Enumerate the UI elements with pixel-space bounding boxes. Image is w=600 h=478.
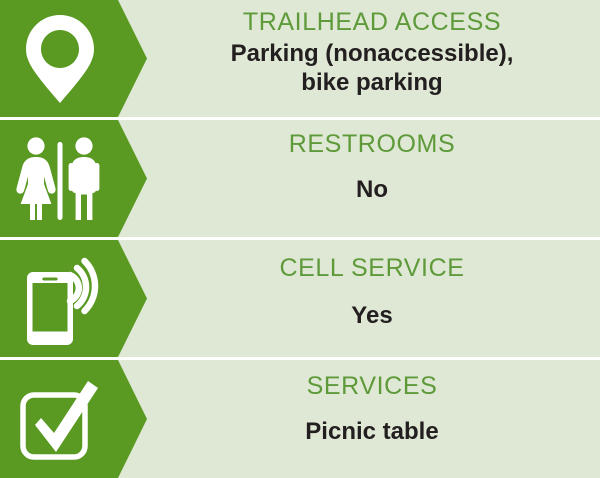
amenity-row: CELL SERVICE Yes xyxy=(0,240,600,357)
map-pin-icon xyxy=(0,0,120,117)
row-heading: RESTROOMS xyxy=(289,130,456,158)
row-heading: CELL SERVICE xyxy=(279,254,464,282)
row-heading: TRAILHEAD ACCESS xyxy=(243,8,501,36)
restrooms-icon xyxy=(0,120,120,237)
amenity-row: RESTROOMS No xyxy=(0,120,600,237)
row-value: No xyxy=(356,176,388,205)
row-heading: SERVICES xyxy=(307,372,438,400)
row-value: Picnic table xyxy=(305,418,438,447)
cell-signal-phone-icon xyxy=(0,240,120,357)
row-content: TRAILHEAD ACCESS Parking (nonaccessible)… xyxy=(150,0,594,117)
row-value-line2: bike parking xyxy=(301,69,442,96)
row-content: SERVICES Picnic table xyxy=(150,360,594,478)
row-value: Yes xyxy=(351,302,392,331)
row-value-line1: Parking (nonaccessible), xyxy=(231,40,514,67)
amenities-panel: TRAILHEAD ACCESS Parking (nonaccessible)… xyxy=(0,0,600,478)
row-content: RESTROOMS No xyxy=(150,120,594,237)
row-value: Parking (nonaccessible), bike parking xyxy=(231,40,514,98)
checkbox-check-icon xyxy=(0,360,120,478)
row-content: CELL SERVICE Yes xyxy=(150,240,594,357)
amenity-row: SERVICES Picnic table xyxy=(0,360,600,478)
amenity-row: TRAILHEAD ACCESS Parking (nonaccessible)… xyxy=(0,0,600,117)
